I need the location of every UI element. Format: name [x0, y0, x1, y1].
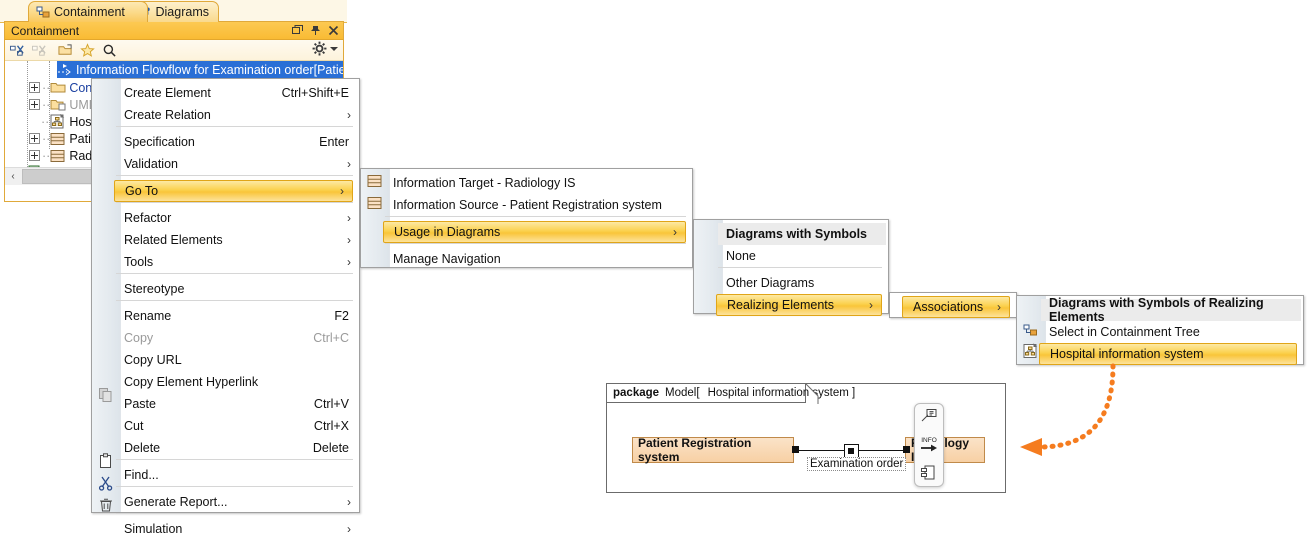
information-flow-icon	[57, 63, 73, 77]
menu-item-find[interactable]: Find...	[92, 464, 359, 486]
menu-item-copy-element-hyperlink[interactable]: Copy Element Hyperlink	[92, 371, 359, 393]
submenu-chevron-icon: ›	[340, 184, 344, 198]
node-patient-registration-system[interactable]: Patient Registration system	[632, 437, 794, 463]
menu-separator	[116, 486, 353, 487]
menu-item-validation[interactable]: Validation›	[92, 153, 359, 175]
menu-separator	[385, 216, 686, 217]
component-icon[interactable]	[919, 463, 939, 483]
menu-item-create-relation[interactable]: Create Relation›	[92, 104, 359, 126]
menu-item-select-in-containment-tree[interactable]: Select in Containment Tree	[1017, 321, 1303, 343]
menu-item-stereotype[interactable]: Stereotype	[92, 278, 359, 300]
submenu-chevron-icon: ›	[347, 522, 351, 536]
gear-icon[interactable]	[312, 41, 327, 56]
menu-separator	[116, 273, 353, 274]
realizing-elements-submenu[interactable]: Associations›	[889, 292, 1017, 318]
menu-item-other-diagrams[interactable]: Other Diagrams	[694, 272, 888, 294]
expander-icon[interactable]	[29, 150, 40, 161]
menu-item-cut[interactable]: CutCtrl+X	[92, 415, 359, 437]
dropdown-caret-icon[interactable]	[330, 47, 338, 51]
node-label: Patient Registration system	[638, 436, 788, 464]
menu-item-label: Manage Navigation	[393, 252, 501, 266]
submenu-chevron-icon: ›	[347, 495, 351, 509]
usage-in-diagrams-submenu[interactable]: Diagrams with SymbolsNoneOther DiagramsR…	[693, 219, 889, 314]
folder-icon	[50, 81, 66, 95]
menu-item-label: Create Relation	[124, 108, 211, 122]
menu-item-label: Cut	[124, 419, 143, 433]
menu-item-label: Specification	[124, 135, 195, 149]
menu-item-refactor[interactable]: Refactor›	[92, 207, 359, 229]
expander-icon[interactable]	[29, 99, 40, 110]
menu-item-label: Find...	[124, 468, 159, 482]
menu-item-label: Tools	[124, 255, 153, 269]
annotation-arrow	[1000, 358, 1140, 468]
menu-item-label: None	[726, 249, 756, 263]
scroll-left-arrow[interactable]: ‹	[5, 171, 21, 182]
menu-item-information-source-patient-registration-system[interactable]: Information Source - Patient Registratio…	[361, 194, 692, 216]
menu-item-specification[interactable]: SpecificationEnter	[92, 131, 359, 153]
favorites-star-icon[interactable]	[80, 43, 95, 58]
submenu-chevron-icon: ›	[673, 225, 677, 239]
menu-item-tools[interactable]: Tools›	[92, 251, 359, 273]
menu-item-usage-in-diagrams[interactable]: Usage in Diagrams›	[383, 221, 686, 243]
menu-item-label: Create Element	[124, 86, 211, 100]
tree-item-label: Information Flowflow for Examination ord…	[76, 63, 343, 77]
close-icon[interactable]	[328, 25, 339, 36]
menu-item-label: Rename	[124, 309, 171, 323]
menu-separator	[718, 267, 882, 268]
tab-containment-label: Containment	[54, 5, 125, 19]
pin-icon[interactable]	[310, 25, 321, 36]
frame-keyword: package	[613, 387, 659, 399]
hospital-diagram-icon	[50, 114, 66, 129]
menu-item-simulation[interactable]: Simulation›	[92, 518, 359, 540]
menu-item-manage-navigation[interactable]: Manage Navigation	[361, 248, 692, 270]
submenu-chevron-icon: ›	[347, 233, 351, 247]
menu-item-associations[interactable]: Associations›	[902, 296, 1010, 318]
diagram-canvas[interactable]: package Model[ Hospital information syst…	[606, 383, 1006, 493]
menu-item-hospital-information-system[interactable]: Hospital information system	[1039, 343, 1297, 365]
menu-item-label: Copy Element Hyperlink	[124, 375, 258, 389]
context-menu[interactable]: Create ElementCtrl+Shift+ECreate Relatio…	[91, 78, 360, 513]
info-flow-icon[interactable]: INFO	[918, 434, 940, 456]
submenu-chevron-icon: ›	[347, 255, 351, 269]
menu-item-label: Diagrams with Symbols	[726, 227, 867, 241]
menu-separator	[116, 300, 353, 301]
tab-containment[interactable]: Containment	[28, 1, 148, 22]
menu-item-label: Information Target - Radiology IS	[393, 176, 576, 190]
open-folder-icon[interactable]	[58, 43, 73, 58]
menu-item-none[interactable]: None	[694, 245, 888, 267]
package-frame-header: package Model[ Hospital information syst…	[606, 383, 806, 403]
menu-item-rename[interactable]: RenameF2	[92, 305, 359, 327]
submenu-chevron-icon: ›	[347, 211, 351, 225]
expander-icon[interactable]	[29, 133, 40, 144]
menu-item-paste[interactable]: PasteCtrl+V	[92, 393, 359, 415]
panel-titlebar: Containment	[5, 22, 343, 40]
submenu-chevron-icon: ›	[869, 298, 873, 312]
menu-item-shortcut: Ctrl+C	[313, 331, 349, 345]
menu-item-label: Validation	[124, 157, 178, 171]
menu-separator	[385, 243, 686, 244]
menu-item-information-target-radiology-is[interactable]: Information Target - Radiology IS	[361, 172, 692, 194]
tree-item-information-flow[interactable]: Information Flowflow for Examination ord…	[57, 61, 343, 78]
menu-item-label: Stereotype	[124, 282, 184, 296]
associations-submenu[interactable]: Diagrams with Symbols of Realizing Eleme…	[1016, 295, 1304, 365]
menu-item-create-element[interactable]: Create ElementCtrl+Shift+E	[92, 82, 359, 104]
menu-item-label: Hospital information system	[1050, 347, 1204, 361]
menu-item-shortcut: Ctrl+V	[314, 397, 349, 411]
menu-item-shortcut: Ctrl+Shift+E	[282, 86, 349, 100]
menu-item-label: Refactor	[124, 211, 171, 225]
profile-folder-icon	[50, 98, 66, 112]
restore-icon[interactable]	[292, 25, 303, 36]
menu-item-label: Realizing Elements	[727, 298, 834, 312]
menu-item-delete[interactable]: DeleteDelete	[92, 437, 359, 459]
menu-separator	[116, 175, 353, 176]
panel-toolbar	[5, 40, 343, 61]
diagram-floating-toolbar[interactable]: INFO	[914, 403, 944, 487]
menu-item-related-elements[interactable]: Related Elements›	[92, 229, 359, 251]
menu-item-label: Related Elements	[124, 233, 223, 247]
menu-item-label: Simulation	[124, 522, 182, 536]
menu-item-label: Information Source - Patient Registratio…	[393, 198, 662, 212]
menu-item-label: Select in Containment Tree	[1049, 325, 1200, 339]
flow-endpoint-target	[903, 446, 910, 453]
expander-icon[interactable]	[29, 82, 40, 93]
menu-separator	[116, 202, 353, 203]
deselect-icon[interactable]	[32, 43, 47, 58]
hospital-diagram-icon	[1023, 343, 1039, 359]
menu-item-copy[interactable]: CopyCtrl+C	[92, 327, 359, 349]
menu-item-label: Diagrams with Symbols of Realizing Eleme…	[1049, 296, 1301, 324]
menu-item-label: Other Diagrams	[726, 276, 814, 290]
submenu-chevron-icon: ›	[347, 157, 351, 171]
menu-item-shortcut: Ctrl+X	[314, 419, 349, 433]
menu-separator	[116, 126, 353, 127]
menu-item-label: Copy	[124, 331, 153, 345]
class-icon	[50, 132, 66, 146]
menu-item-label: Copy URL	[124, 353, 182, 367]
frame-diagram-name: Hospital information system ]	[708, 387, 856, 399]
menu-item-label: Associations	[913, 300, 983, 314]
menu-item-label: Usage in Diagrams	[394, 225, 500, 239]
menu-item-label: Go To	[125, 184, 158, 198]
submenu-chevron-icon: ›	[347, 108, 351, 122]
menu-item-label: Delete	[124, 441, 160, 455]
note-icon[interactable]	[919, 407, 939, 427]
menu-item-shortcut: Delete	[313, 441, 349, 455]
menu-item-copy-url[interactable]: Copy URL	[92, 349, 359, 371]
submenu-chevron-icon: ›	[997, 300, 1001, 314]
menu-separator	[116, 459, 353, 460]
menu-item-diagrams-with-symbols-of-realizing-elements: Diagrams with Symbols of Realizing Eleme…	[1041, 299, 1301, 321]
menu-item-shortcut: Enter	[319, 135, 349, 149]
menu-item-shortcut: F2	[334, 309, 349, 323]
search-icon[interactable]	[102, 43, 117, 58]
menu-item-label: Generate Report...	[124, 495, 228, 509]
menu-item-generate-report[interactable]: Generate Report...›	[92, 491, 359, 513]
select-in-containment-tree-icon[interactable]	[10, 43, 25, 58]
frame-name: Model[	[665, 387, 700, 399]
class-icon	[50, 149, 66, 163]
menu-item-realizing-elements[interactable]: Realizing Elements›	[716, 294, 882, 316]
svg-text:INFO: INFO	[921, 437, 937, 444]
menu-item-diagrams-with-symbols: Diagrams with Symbols	[718, 223, 886, 245]
panel-title: Containment	[11, 24, 79, 38]
tab-diagrams-label: Diagrams	[156, 5, 210, 19]
flow-endpoint-source	[792, 446, 799, 453]
containment-tree-icon	[36, 5, 50, 19]
panel-tabstrip: Containment Diagrams	[0, 0, 347, 23]
package-tab-notch	[805, 383, 819, 405]
tree-guide	[27, 61, 28, 169]
menu-item-go-to[interactable]: Go To›	[114, 180, 353, 202]
menu-item-label: Paste	[124, 397, 156, 411]
flow-label: Examination order	[807, 457, 906, 471]
goto-submenu[interactable]: Information Target - Radiology ISInforma…	[360, 168, 693, 268]
